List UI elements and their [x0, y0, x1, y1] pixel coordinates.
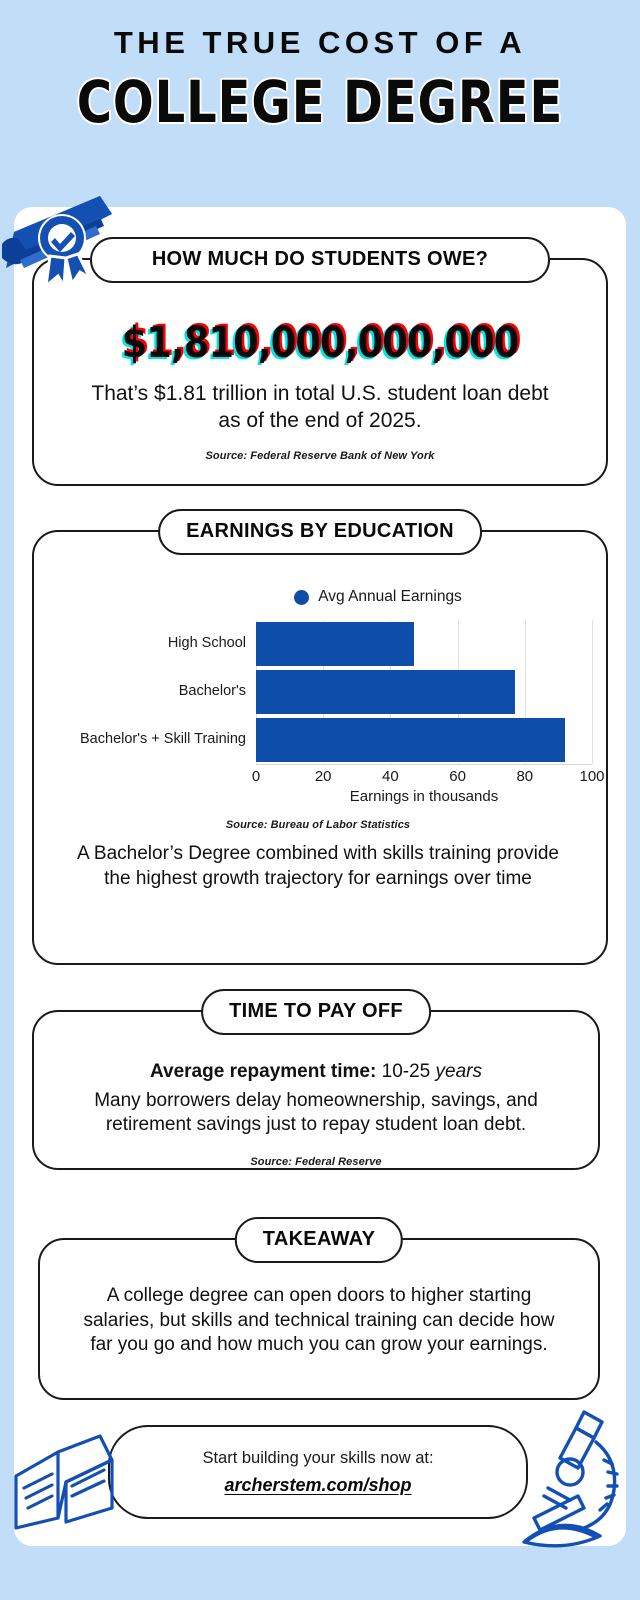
chart-bar-row: High School — [44, 620, 592, 668]
chart-x-axis-label: Earnings in thousands — [256, 788, 592, 805]
repayment-stat-unit: years — [436, 1061, 482, 1082]
page-title-line-1: THE TRUE COST OF A — [0, 26, 640, 60]
card-takeaway-title: TAKEAWAY — [263, 1228, 375, 1252]
cta-text: Start building your skills now at: — [202, 1449, 433, 1468]
legend-dot-icon — [294, 590, 309, 605]
card-earnings-title: EARNINGS BY EDUCATION — [186, 520, 454, 544]
bar-category-label: High School — [44, 636, 256, 652]
x-tick: 100 — [579, 768, 604, 785]
bar-category-label: Bachelor's + Skill Training — [44, 732, 256, 748]
page-header: THE TRUE COST OF A COLLEGE DEGREE — [0, 0, 640, 133]
card-student-debt-title: HOW MUCH DO STUDENTS OWE? — [118, 248, 522, 272]
bar-bachelors — [256, 670, 515, 714]
infographic-page: THE TRUE COST OF A COLLEGE DEGREE — [0, 0, 640, 1600]
bar-track — [256, 620, 592, 668]
takeaway-text: A college degree can open doors to highe… — [74, 1284, 564, 1358]
repayment-body: Many borrowers delay homeownership, savi… — [52, 1089, 580, 1138]
bar-high-school — [256, 622, 414, 666]
card-takeaway-header: TAKEAWAY — [235, 1217, 403, 1263]
total-debt-description: That’s $1.81 trillion in total U.S. stud… — [60, 381, 580, 435]
repayment-stat-line: Average repayment time: 10-25 years — [52, 1060, 580, 1085]
chart-plot-area: High School Bachelor's Bachelor's + Skil… — [44, 620, 592, 764]
x-tick: 80 — [516, 768, 533, 785]
card-student-debt-header: HOW MUCH DO STUDENTS OWE? — [90, 237, 550, 283]
card-earnings-body: Avg Annual Earnings High School — [34, 532, 606, 891]
cta-banner[interactable]: Start building your skills now at: arche… — [108, 1425, 528, 1519]
card-takeaway: TAKEAWAY A college degree can open doors… — [38, 1238, 600, 1400]
open-book-icon — [8, 1430, 120, 1539]
cta-link[interactable]: archerstem.com/shop — [224, 1475, 411, 1496]
card-time-to-pay-off: TIME TO PAY OFF Average repayment time: … — [32, 1010, 600, 1170]
earnings-bar-chart: High School Bachelor's Bachelor's + Skil… — [44, 620, 592, 805]
card-earnings-by-education: EARNINGS BY EDUCATION Avg Annual Earning… — [32, 530, 608, 965]
chart-x-axis: 0 20 40 60 80 100 — [256, 764, 592, 786]
chart-bar-row: Bachelor's + Skill Training — [44, 716, 592, 764]
bar-category-label: Bachelor's — [44, 684, 256, 700]
x-tick: 0 — [252, 768, 260, 785]
total-debt-source: Source: Federal Reserve Bank of New York — [60, 450, 580, 462]
diploma-icon — [0, 172, 126, 295]
x-tick: 40 — [382, 768, 399, 785]
page-title-line-2: COLLEGE DEGREE — [26, 72, 615, 133]
card-payoff-body: Average repayment time: 10-25 years Many… — [34, 1012, 598, 1168]
x-tick: 20 — [315, 768, 332, 785]
earnings-caption: A Bachelor’s Degree combined with skills… — [44, 842, 592, 891]
repayment-source: Source: Federal Reserve — [52, 1156, 580, 1168]
card-payoff-title: TIME TO PAY OFF — [229, 1000, 403, 1024]
legend-label-avg-annual-earnings: Avg Annual Earnings — [318, 588, 462, 606]
repayment-stat-value: 10-25 — [382, 1061, 431, 1082]
gridline — [592, 620, 593, 764]
microscope-icon — [508, 1400, 636, 1555]
earnings-source: Source: Bureau of Labor Statistics — [44, 819, 592, 831]
bar-track — [256, 668, 592, 716]
repayment-stat-label: Average repayment time: — [150, 1061, 376, 1082]
x-tick: 60 — [449, 768, 466, 785]
total-debt-figure: $1,810,000,000,000 — [73, 322, 567, 365]
chart-bar-row: Bachelor's — [44, 668, 592, 716]
card-payoff-header: TIME TO PAY OFF — [201, 989, 431, 1035]
chart-legend: Avg Annual Earnings — [44, 588, 592, 606]
bar-track — [256, 716, 592, 764]
card-earnings-header: EARNINGS BY EDUCATION — [158, 509, 482, 555]
bar-bachelors-plus-skill-training — [256, 718, 565, 762]
